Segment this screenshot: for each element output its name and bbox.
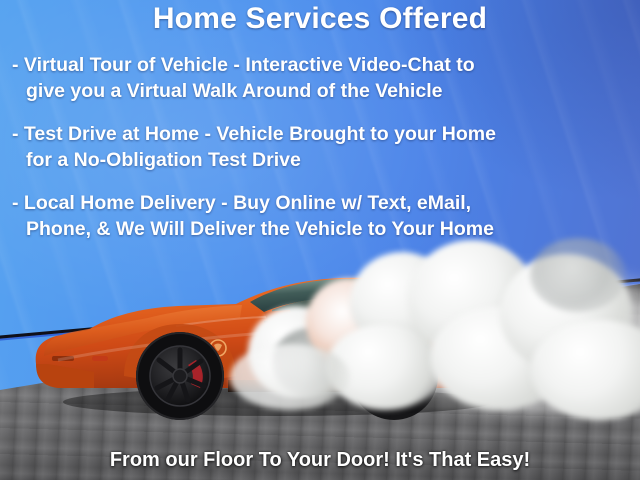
tagline: From our Floor To Your Door! It's That E…: [0, 449, 640, 472]
service-line-1: - Test Drive at Home - Vehicle Brought t…: [12, 123, 496, 145]
promo-banner: Home Services Offered - Virtual Tour of …: [0, 0, 640, 480]
car-photo: [28, 260, 508, 420]
service-item: - Local Home Delivery - Buy Online w/ Te…: [12, 190, 630, 242]
service-line-1: - Virtual Tour of Vehicle - Interactive …: [12, 54, 475, 76]
services-list: - Virtual Tour of Vehicle - Interactive …: [12, 52, 630, 259]
service-item: - Test Drive at Home - Vehicle Brought t…: [12, 121, 630, 173]
page-title: Home Services Offered: [0, 2, 640, 36]
service-line-2: for a No-Obligation Test Drive: [12, 147, 630, 173]
service-line-1: - Local Home Delivery - Buy Online w/ Te…: [12, 192, 471, 214]
service-line-2: Phone, & We Will Deliver the Vehicle to …: [12, 216, 630, 242]
service-item: - Virtual Tour of Vehicle - Interactive …: [12, 52, 630, 104]
service-line-2: give you a Virtual Walk Around of the Ve…: [12, 78, 630, 104]
